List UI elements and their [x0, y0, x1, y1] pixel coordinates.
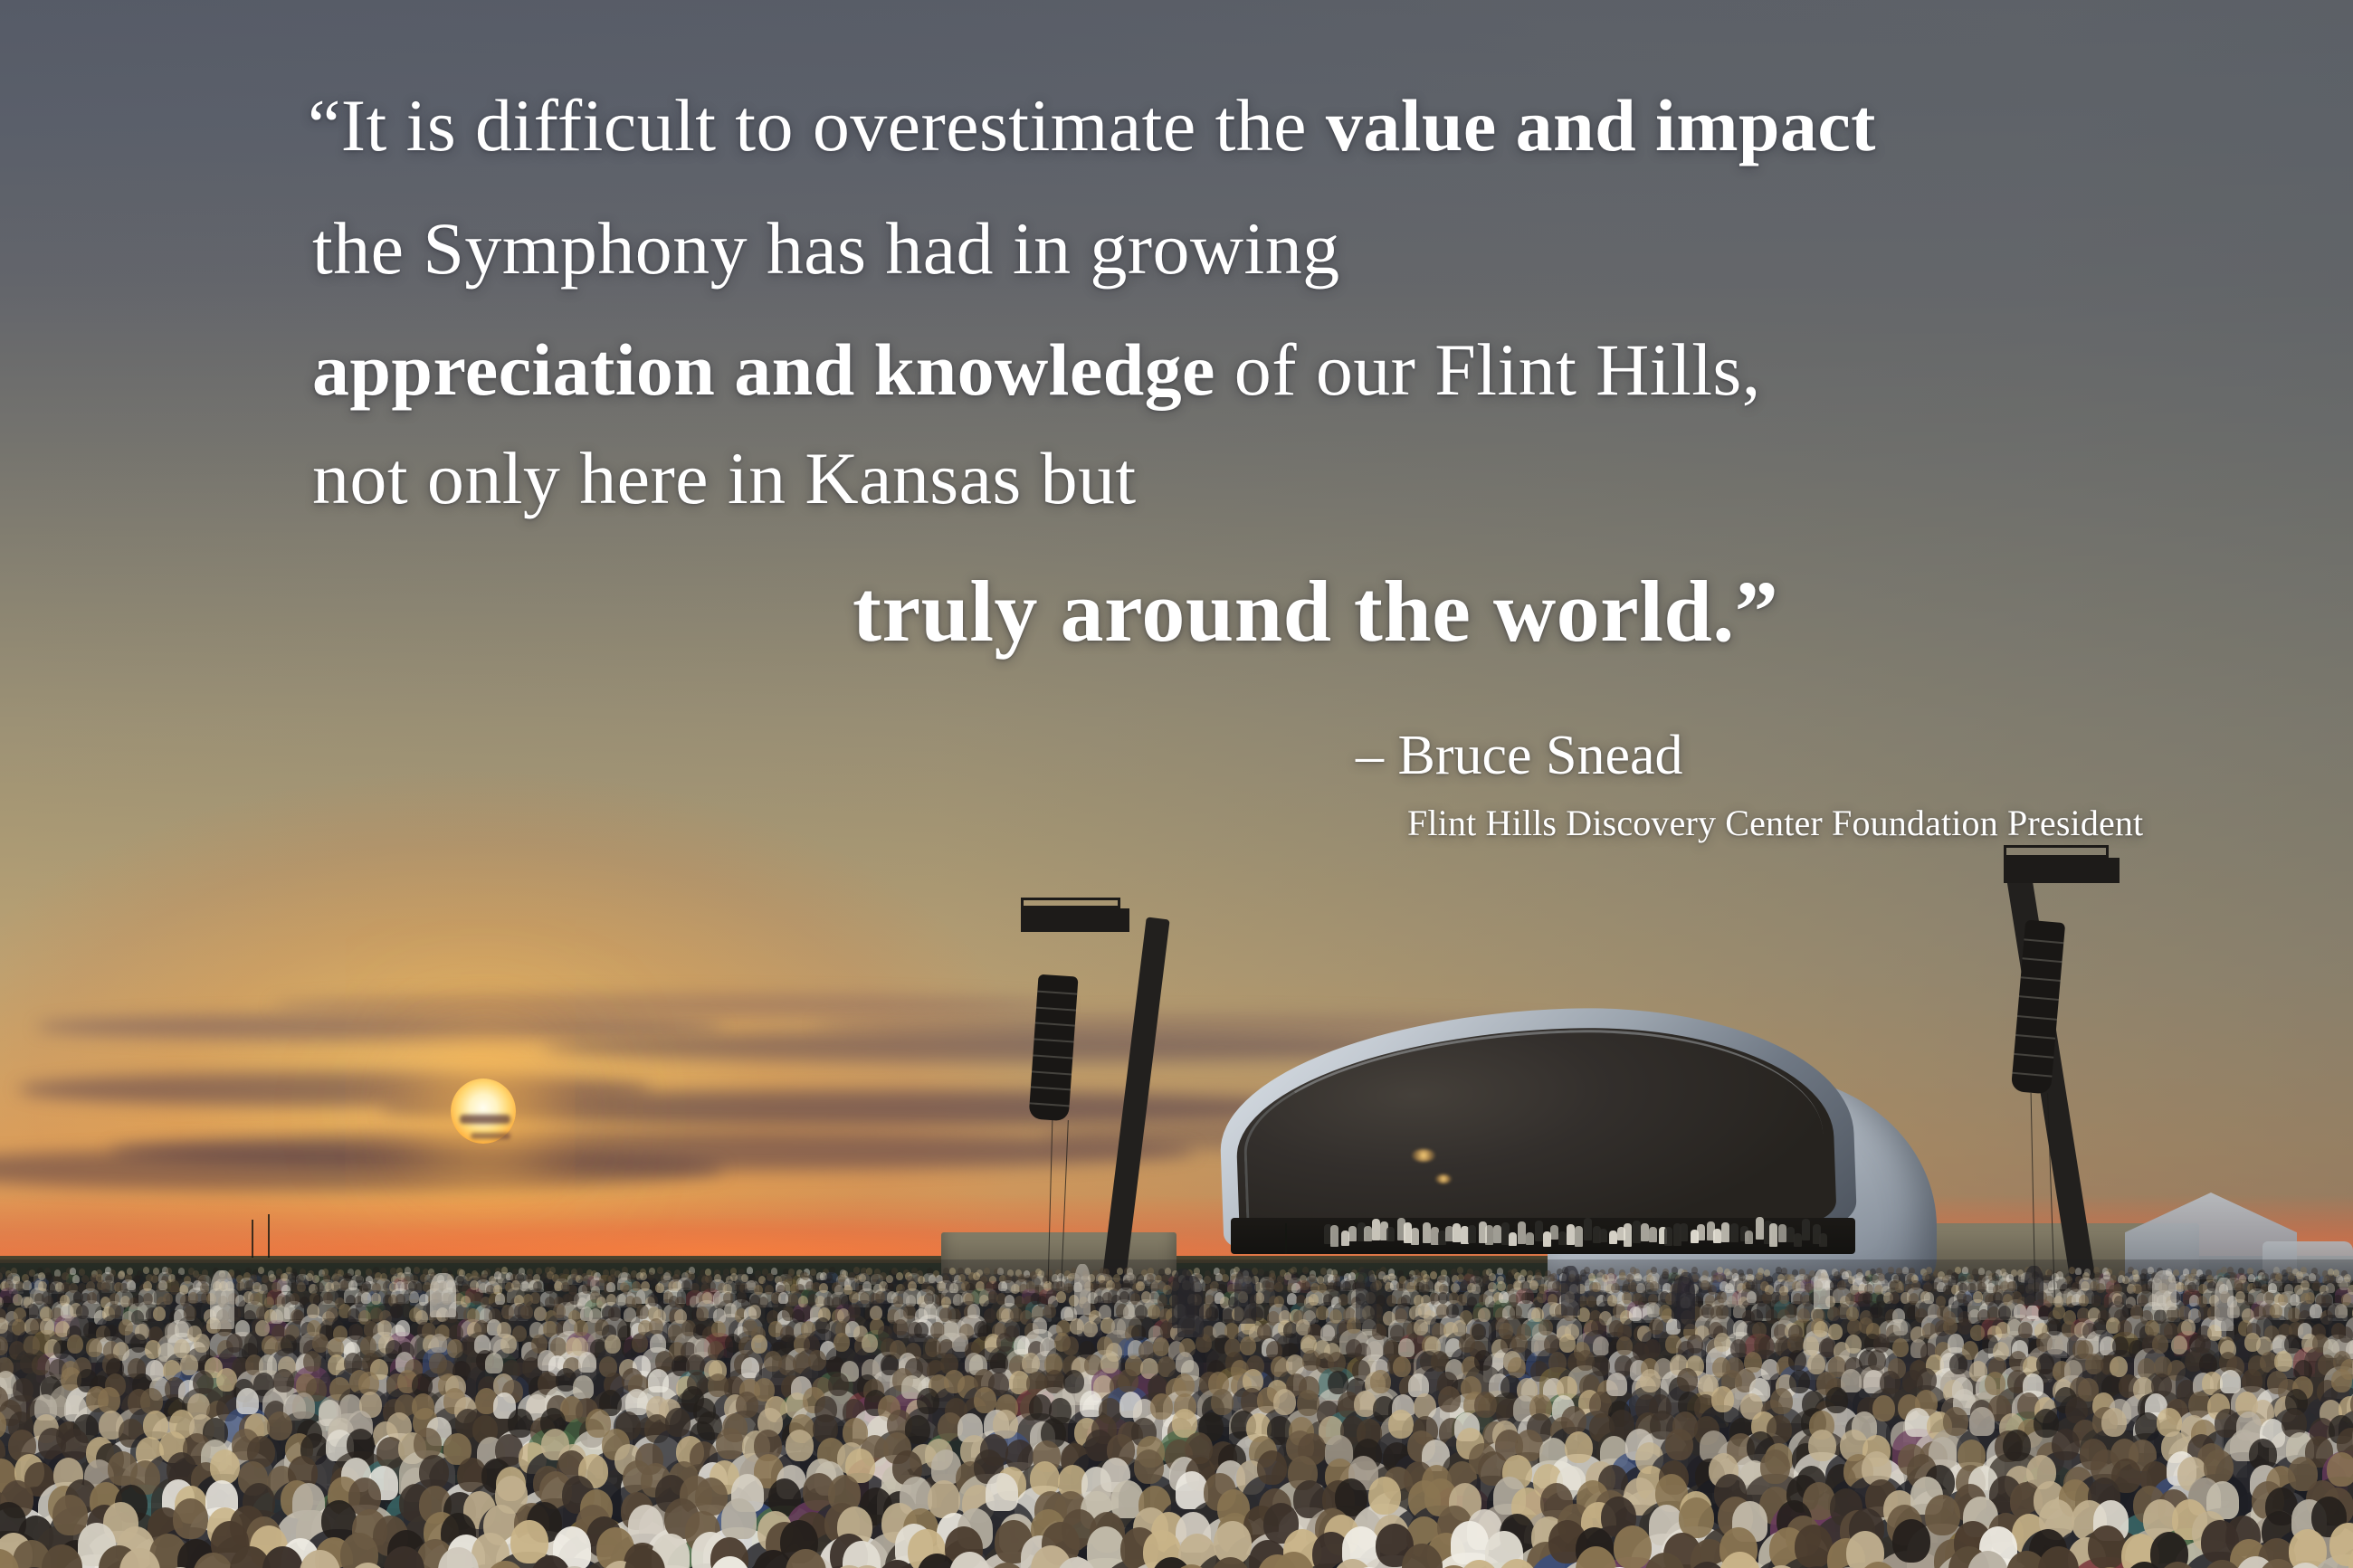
- crowd-person-head: [1779, 1292, 1789, 1304]
- speaker-cabinet-rib: [2015, 1034, 2055, 1040]
- audience-crowd: [0, 1259, 2353, 1568]
- crowd-person-head: [1043, 1304, 1056, 1318]
- boom-head-left: [1021, 908, 1129, 932]
- stage-light: [1412, 1149, 1435, 1162]
- crowd-person-hat: [1841, 1369, 1862, 1392]
- crowd-person-head: [1338, 1294, 1348, 1306]
- crowd-person-head: [553, 1304, 566, 1318]
- crowd-person-head: [1136, 1281, 1145, 1291]
- crowd-person-head: [1511, 1334, 1528, 1353]
- crowd-person-head: [730, 1273, 738, 1281]
- crowd-person-head: [2230, 1272, 2237, 1280]
- crowd-person-hat: [158, 1280, 167, 1290]
- crowd-person-head: [226, 1334, 243, 1353]
- crowd-person-head: [1804, 1274, 1811, 1282]
- crowd-person-head: [649, 1318, 663, 1335]
- crowd-person-head: [1951, 1272, 1958, 1280]
- crowd-person-hat: [395, 1281, 405, 1291]
- crowd-person-head: [362, 1281, 371, 1291]
- crowd-person-head: [1121, 1280, 1130, 1290]
- crowd-person-head: [1414, 1319, 1428, 1335]
- crowd-person-head: [1165, 1268, 1171, 1275]
- crowd-person-head: [1401, 1295, 1411, 1307]
- crowd-person-head: [86, 1338, 102, 1357]
- crowd-person-head: [45, 1272, 52, 1280]
- speaker-cabinet-rib: [1033, 1054, 1072, 1059]
- crowd-person-head: [973, 1272, 980, 1280]
- crowd-person-head: [1457, 1294, 1467, 1306]
- crowd-person-hat: [2048, 1280, 2057, 1290]
- crowd-person-head: [312, 1334, 329, 1353]
- crowd-person-head: [1808, 1430, 1836, 1461]
- crowd-person-head: [2139, 1273, 2147, 1281]
- crowd-person-head: [2118, 1320, 2132, 1336]
- crowd-person-head: [508, 1409, 533, 1438]
- crowd-person-hat: [348, 1280, 357, 1290]
- crowd-person-head: [1825, 1387, 1848, 1413]
- crowd-person-head: [32, 1354, 50, 1375]
- crowd-person-head: [996, 1333, 1013, 1352]
- crowd-person-head: [1649, 1318, 1663, 1335]
- crowd-person-head: [533, 1281, 542, 1291]
- crowd-person-head: [1022, 1353, 1040, 1373]
- crowd-person-hat: [495, 1293, 505, 1305]
- crowd-person-head: [707, 1281, 716, 1291]
- crowd-person-head: [2270, 1304, 2282, 1318]
- crowd-person-hat: [2075, 1268, 2081, 1275]
- crowd-person-head: [2275, 1273, 2282, 1281]
- crowd-person-head: [2110, 1356, 2128, 1377]
- crowd-person-head: [655, 1283, 664, 1293]
- crowd-person-hat: [1893, 1319, 1908, 1335]
- crowd-person-hat: [606, 1282, 615, 1292]
- crowd-person-head: [151, 1275, 158, 1283]
- crowd-person-hat: [862, 1281, 872, 1291]
- crowd-person-hat: [1969, 1407, 1995, 1436]
- crowd-person-hat: [485, 1353, 503, 1373]
- crowd-person-head: [984, 1268, 990, 1275]
- crowd-person-head: [1746, 1280, 1755, 1290]
- orchestra-performer: [1423, 1222, 1431, 1242]
- crowd-person-head: [500, 1335, 517, 1354]
- crowd-person-head: [1342, 1281, 1351, 1291]
- crowd-person-head: [1845, 1293, 1855, 1305]
- crowd-person-head: [582, 1284, 591, 1294]
- crowd-person-head: [1788, 1350, 1806, 1371]
- crowd-person-head: [1328, 1352, 1346, 1373]
- crowd-person-head: [893, 1319, 908, 1335]
- crowd-person-head: [1406, 1274, 1414, 1282]
- speaker-cabinet-rib: [2024, 938, 2063, 944]
- sun-cloud-notch: [471, 1133, 510, 1139]
- speaker-cabinet-rib: [2017, 1015, 2057, 1021]
- crowd-person-head: [810, 1269, 816, 1276]
- crowd-person-hat: [747, 1267, 753, 1274]
- crowd-person-head: [175, 1273, 182, 1281]
- crowd-person-head: [641, 1281, 650, 1291]
- crowd-person-hat: [70, 1268, 76, 1275]
- cloud-band: [380, 1090, 1330, 1126]
- crowd-person-head: [267, 1411, 292, 1440]
- sun-cloud-notch: [460, 1115, 510, 1124]
- crowd-person-head: [1328, 1371, 1348, 1394]
- crowd-person-hat: [1629, 1307, 1642, 1321]
- crowd-person-head: [62, 1272, 69, 1280]
- crowd-person-hat: [1127, 1272, 1134, 1280]
- crowd-person-head: [2264, 1292, 2274, 1304]
- crowd-person-head: [1716, 1305, 1729, 1319]
- crowd-person-head: [2152, 1335, 2168, 1354]
- crowd-person-head: [1687, 1335, 1703, 1354]
- crowd-person-head: [558, 1273, 566, 1281]
- orchestra-performer: [1575, 1226, 1583, 1247]
- crowd-person-head: [828, 1373, 849, 1396]
- crowd-person-head: [866, 1268, 872, 1275]
- orchestra-silhouette: [1321, 1205, 1828, 1247]
- crowd-person-head: [665, 1408, 691, 1437]
- crowd-person-head: [194, 1334, 210, 1353]
- crowd-person-hat: [1606, 1373, 1627, 1396]
- crowd-person-hat: [431, 1334, 447, 1353]
- crowd-person-head: [2047, 1319, 2062, 1335]
- crowd-person-hat: [1499, 1291, 1509, 1303]
- crowd-person-head: [1119, 1291, 1129, 1303]
- crowd-person-head: [2122, 1276, 2129, 1284]
- crowd-person-head: [1862, 1292, 1872, 1304]
- crowd-person-hat: [1747, 1291, 1757, 1303]
- crowd-person-head: [1457, 1267, 1463, 1274]
- crowd-person-head: [1393, 1356, 1411, 1377]
- crowd-person-head: [1967, 1274, 1974, 1282]
- crowd-person-head: [754, 1285, 763, 1295]
- orchestra-performer: [1609, 1231, 1617, 1244]
- crowd-person-head: [608, 1307, 621, 1321]
- crowd-person-hat: [1593, 1336, 1609, 1355]
- orchestra-performer: [1558, 1231, 1567, 1244]
- crowd-person-head: [1478, 1307, 1491, 1322]
- crowd-person-head: [2301, 1280, 2310, 1290]
- crowd-person-hat: [648, 1369, 669, 1392]
- crowd-person-head: [290, 1293, 300, 1305]
- crowd-person-hat: [1634, 1273, 1642, 1281]
- crowd-person-head: [530, 1292, 540, 1304]
- crowd-person-head: [2296, 1271, 2303, 1279]
- crowd-person-head: [323, 1292, 333, 1304]
- crowd-person-head: [1070, 1318, 1084, 1335]
- crowd-person-head: [819, 1283, 828, 1293]
- crowd-person-head: [1274, 1282, 1283, 1292]
- crowd-person-head: [1421, 1284, 1430, 1294]
- crowd-person-head: [119, 1319, 133, 1335]
- crowd-person-head: [1309, 1274, 1316, 1282]
- crowd-person-head: [2052, 1429, 2080, 1460]
- orchestra-performer: [1745, 1231, 1753, 1244]
- crowd-person-head: [419, 1455, 449, 1489]
- orchestra-performer: [1386, 1227, 1395, 1241]
- crowd-person-head: [802, 1272, 809, 1280]
- crowd-person-head: [1153, 1337, 1169, 1356]
- orchestra-performer: [1372, 1219, 1380, 1240]
- crowd-person-head: [2188, 1273, 2196, 1281]
- crowd-person-head: [2181, 1319, 2196, 1335]
- crowd-person-head: [1430, 1271, 1437, 1279]
- crowd-person-head: [255, 1320, 270, 1336]
- crowd-person-head: [1300, 1280, 1310, 1290]
- crowd-person-head: [1521, 1292, 1531, 1304]
- crowd-person-hat: [236, 1388, 259, 1414]
- crowd-person-hat: [578, 1352, 596, 1373]
- crowd-person-head: [1474, 1392, 1497, 1418]
- crowd-person-head: [1895, 1283, 1904, 1293]
- crowd-person-hat: [2047, 1335, 2063, 1354]
- crowd-person-hat: [292, 1392, 315, 1419]
- crowd-person-head: [1619, 1272, 1626, 1280]
- crowd-person-hat: [1962, 1267, 1968, 1274]
- crowd-person-hat: [1725, 1283, 1734, 1293]
- crowd-person-head: [1538, 1319, 1553, 1335]
- crowd-person-head: [1370, 1370, 1391, 1393]
- crowd-person-head: [1911, 1280, 1920, 1290]
- cloud-band: [271, 993, 1068, 1017]
- crowd-person-head: [632, 1334, 648, 1353]
- crowd-person-hat: [924, 1304, 937, 1318]
- crowd-person-hat: [778, 1292, 788, 1304]
- concert-shell: [1213, 1004, 1955, 1303]
- speaker-cabinet-rib: [1031, 1086, 1071, 1090]
- orchestra-performer: [1584, 1218, 1592, 1240]
- crowd-person-hat: [395, 1320, 410, 1336]
- orchestra-performer: [1330, 1225, 1338, 1246]
- speaker-cabinet-rib: [1037, 991, 1077, 995]
- orchestra-performer: [1633, 1221, 1641, 1242]
- crowd-person-head: [210, 1449, 240, 1484]
- crowd-person-head: [2327, 1452, 2353, 1487]
- crowd-person-hat: [2326, 1283, 2335, 1293]
- crowd-person-hat: [2056, 1271, 2063, 1279]
- crowd-person-head: [1464, 1273, 1472, 1281]
- crowd-person-head: [1291, 1272, 1299, 1280]
- crowd-person-head: [303, 1351, 321, 1372]
- orchestra-performer: [1794, 1233, 1802, 1247]
- crowd-person-head: [472, 1272, 480, 1280]
- crowd-person-head: [748, 1305, 761, 1319]
- crowd-person-head: [1438, 1386, 1461, 1412]
- crowd-person-head: [2003, 1430, 2031, 1461]
- crowd-person-head: [696, 1307, 709, 1321]
- orchestra-performer: [1364, 1226, 1372, 1241]
- crowd-person-head: [716, 1428, 744, 1459]
- crowd-person-head: [61, 1429, 89, 1460]
- orchestra-performer: [1756, 1217, 1764, 1240]
- crowd-person-head: [2114, 1296, 2124, 1307]
- crowd-person-hat: [127, 1280, 136, 1290]
- crowd-person-head: [13, 1378, 33, 1402]
- crowd-person-head: [2036, 1354, 2054, 1374]
- crowd-person-head: [2348, 1285, 2353, 1295]
- orchestra-performer: [1697, 1224, 1705, 1240]
- crowd-person-head: [908, 1281, 917, 1291]
- crowd-person-head: [1591, 1318, 1605, 1335]
- speaker-cabinet-rib: [1035, 1022, 1075, 1027]
- crowd-person-head: [273, 1369, 294, 1392]
- crowd-person-head: [380, 1273, 387, 1281]
- crowd-person-head: [184, 1306, 196, 1320]
- crowd-person-head: [143, 1281, 152, 1291]
- crowd-person-head: [927, 1268, 933, 1275]
- orchestra-performer: [1649, 1227, 1657, 1243]
- crowd-person-head: [1497, 1281, 1506, 1291]
- crowd-person-head: [1148, 1305, 1160, 1319]
- crowd-person-head: [1535, 1272, 1542, 1280]
- orchestra-performer: [1550, 1225, 1558, 1240]
- crowd-person-head: [1474, 1350, 1492, 1371]
- speaker-cabinet-rib: [2019, 995, 2059, 1001]
- orchestra-performer: [1501, 1222, 1510, 1246]
- crowd-person-head: [574, 1320, 588, 1336]
- crowd-person-hat: [1111, 1318, 1126, 1335]
- crowd-person-head: [1892, 1338, 1909, 1357]
- crowd-person-head: [470, 1280, 479, 1290]
- crowd-person-head: [815, 1317, 830, 1334]
- crowd-person-head: [1386, 1295, 1396, 1307]
- crowd-person-head: [1269, 1273, 1276, 1281]
- crowd-person-head: [1650, 1281, 1659, 1291]
- crowd-person-hat: [1733, 1320, 1748, 1336]
- speaker-cabinet-rib: [2023, 957, 2062, 963]
- crowd-person-head: [1205, 1307, 1218, 1321]
- speaker-cabinet-rib: [2014, 1053, 2053, 1059]
- crowd-person-head: [1845, 1335, 1862, 1354]
- orchestra-performer: [1567, 1224, 1575, 1245]
- crowd-person-head: [1257, 1450, 1287, 1485]
- crowd-person-head: [2274, 1351, 2292, 1372]
- crowd-person-head: [1131, 1325, 1146, 1341]
- crowd-person-head: [281, 1273, 288, 1281]
- crowd-person-head: [153, 1307, 166, 1321]
- crowd-person-head: [1870, 1304, 1882, 1318]
- stage-light: [1435, 1174, 1452, 1183]
- crowd-person-head: [1030, 1271, 1037, 1279]
- crowd-person-head: [271, 1282, 281, 1292]
- orchestra-performer: [1526, 1232, 1534, 1245]
- crowd-person-head: [723, 1292, 733, 1304]
- crowd-person-head: [636, 1305, 649, 1319]
- crowd-person-head: [691, 1283, 700, 1293]
- crowd-person-hat: [1472, 1284, 1481, 1294]
- crowd-person-head: [1868, 1350, 1886, 1371]
- crowd-person-head: [1665, 1429, 1693, 1460]
- crowd-person-hat: [2284, 1284, 2293, 1294]
- crowd-person-head: [188, 1292, 198, 1304]
- crowd-person-hat: [650, 1334, 666, 1353]
- crowd-person-head: [307, 1304, 319, 1318]
- orchestra-performer: [1713, 1229, 1721, 1244]
- crowd-person-head: [2082, 1272, 2090, 1280]
- crowd-person-head: [786, 1273, 794, 1281]
- crowd-person-hat: [967, 1304, 980, 1318]
- crowd-person-head: [1561, 1406, 1586, 1435]
- crowd-person-head: [990, 1353, 1008, 1373]
- crowd-person-head: [1717, 1291, 1727, 1303]
- crowd-person-head: [2262, 1273, 2269, 1281]
- crowd-person-head: [767, 1273, 774, 1281]
- orchestra-performer: [1730, 1223, 1739, 1241]
- crowd-person-head: [1916, 1368, 1937, 1392]
- crowd-person-hat: [2014, 1304, 2026, 1318]
- crowd-person-head: [1714, 1333, 1730, 1352]
- crowd-person-head: [1878, 1273, 1885, 1281]
- crowd-person-head: [1592, 1282, 1601, 1292]
- crowd-person-head: [67, 1335, 83, 1354]
- crowd-person-head: [834, 1333, 850, 1352]
- crowd-person-head: [332, 1273, 339, 1281]
- orchestra-performer: [1802, 1219, 1810, 1240]
- crowd-person-head: [414, 1267, 420, 1274]
- crowd-person-hat: [1607, 1273, 1615, 1281]
- crowd-person-head: [2187, 1282, 2196, 1292]
- crowd-person-head: [1529, 1280, 1538, 1290]
- crowd-person-head: [825, 1273, 833, 1281]
- crowd-person-head: [657, 1267, 663, 1274]
- crowd-person-head: [5, 1280, 14, 1290]
- crowd-person-head: [1807, 1354, 1825, 1374]
- crowd-person-hat: [23, 1280, 32, 1290]
- crowd-person-head: [1730, 1339, 1747, 1358]
- crowd-person-head: [903, 1305, 916, 1319]
- crowd-person-head: [2018, 1322, 2033, 1338]
- crowd-person-hat: [1398, 1338, 1415, 1357]
- crowd-person-head: [581, 1273, 588, 1281]
- crowd-person-head: [1592, 1355, 1610, 1376]
- crowd-person-head: [1785, 1304, 1797, 1318]
- crowd-person-hat: [1647, 1303, 1660, 1317]
- crowd-person-head: [1662, 1271, 1669, 1279]
- crowd-person-hat: [1796, 1281, 1805, 1291]
- crowd-person-head: [1063, 1370, 1084, 1393]
- crowd-person-head: [2096, 1283, 2105, 1293]
- crowd-person-head: [1651, 1267, 1657, 1274]
- crowd-person-head: [1118, 1369, 1138, 1392]
- crowd-person-head: [751, 1335, 767, 1354]
- crowd-person-hat: [494, 1271, 501, 1279]
- crowd-person-head: [681, 1280, 691, 1290]
- crowd-person-head: [808, 1350, 826, 1371]
- crowd-person-head: [1134, 1449, 1164, 1484]
- crowd-person-head: [1611, 1283, 1620, 1293]
- crowd-person-head: [848, 1304, 861, 1318]
- crowd-person-head: [711, 1321, 726, 1337]
- crowd-person-hat: [409, 1291, 419, 1303]
- crowd-person-head: [1396, 1281, 1405, 1291]
- crowd-person-hat: [997, 1268, 1004, 1275]
- crowd-person-head: [520, 1305, 533, 1319]
- quote-card: “It is difficult to overestimate the val…: [0, 0, 2353, 1568]
- orchestra-performer: [1493, 1225, 1501, 1243]
- crowd-person-head: [1309, 1294, 1319, 1306]
- speaker-cabinet-rib: [1034, 1038, 1074, 1042]
- speaker-cabinet-rib: [1030, 1102, 1070, 1107]
- crowd-person-head: [1548, 1352, 1567, 1373]
- speaker-cabinet-rib: [1036, 1007, 1076, 1012]
- crowd-person-head: [1677, 1368, 1698, 1392]
- crowd-person-head: [714, 1274, 721, 1282]
- crowd-person-head: [1240, 1336, 1256, 1355]
- crowd-person-head: [786, 1430, 814, 1461]
- crowd-person-head: [1973, 1291, 1983, 1303]
- crowd-person-head: [2007, 1281, 2016, 1291]
- crowd-person-hat: [1978, 1268, 1985, 1275]
- orchestra-performer: [1411, 1228, 1419, 1245]
